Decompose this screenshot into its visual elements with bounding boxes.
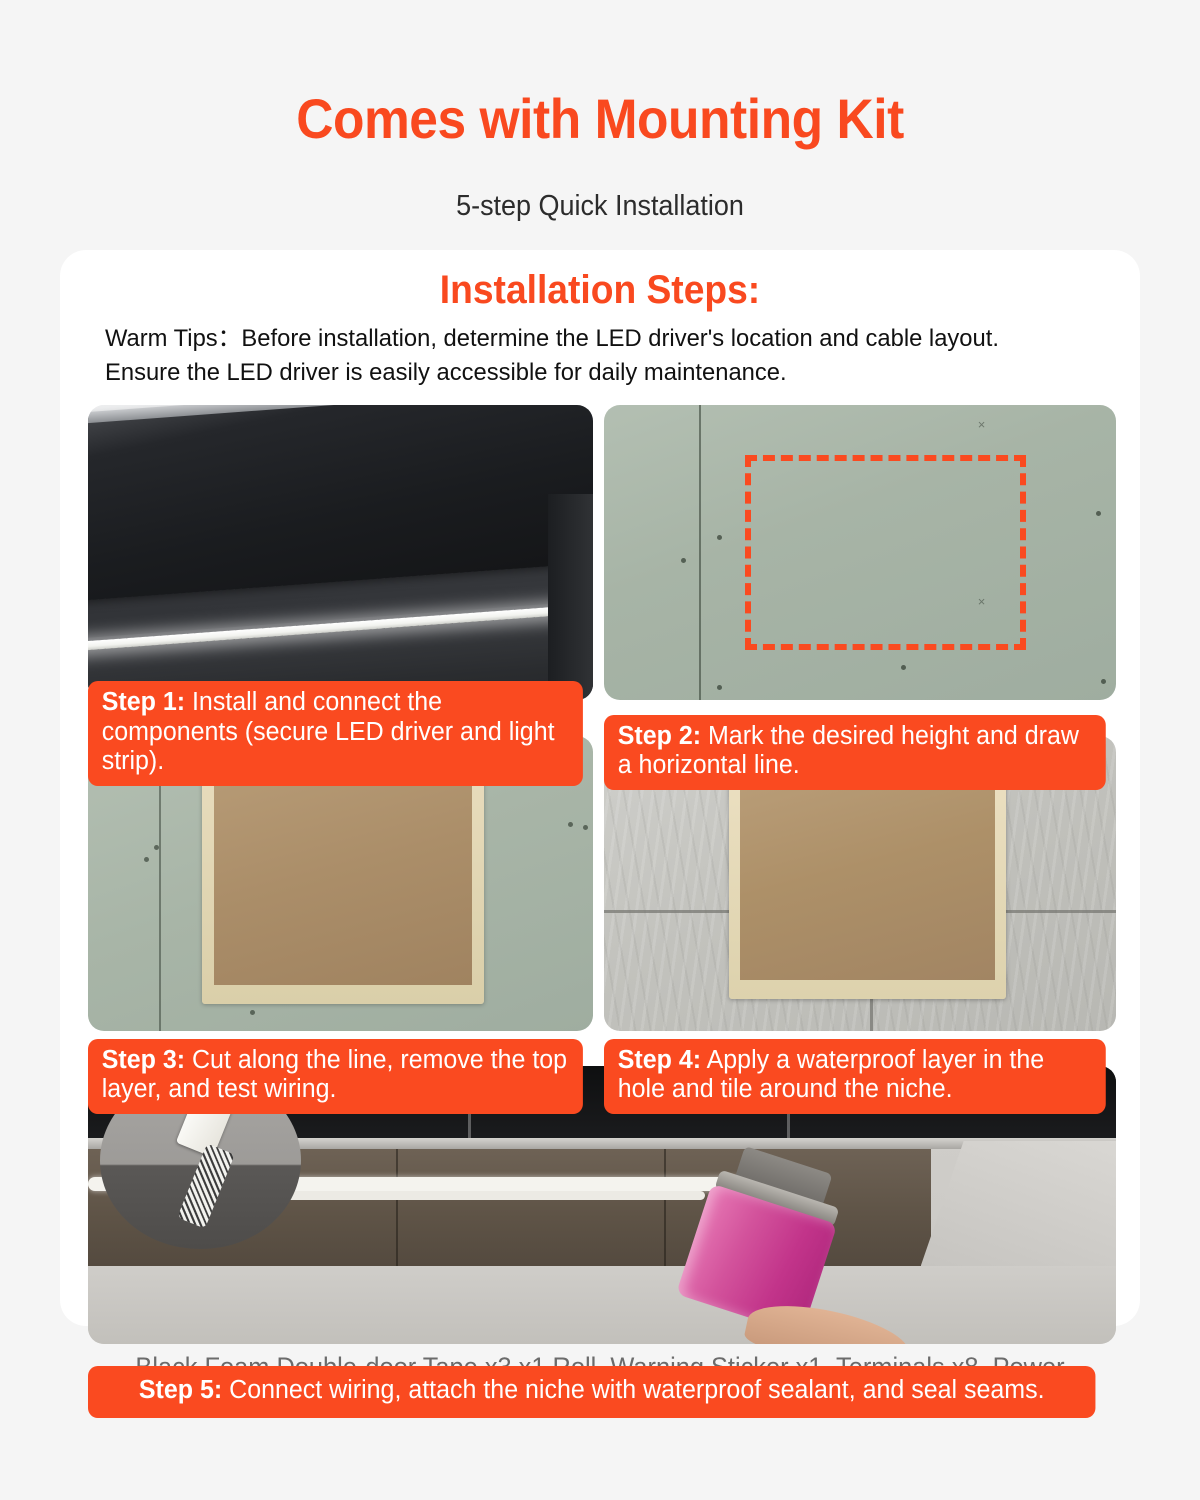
screw-dot xyxy=(717,685,722,690)
step-2-photo: × × xyxy=(604,405,1116,700)
screw-dot xyxy=(717,535,722,540)
step-2-caption: Step 2: Mark the desired height and draw… xyxy=(604,715,1106,790)
page-subtitle: 5-step Quick Installation xyxy=(42,190,1158,223)
screw-dot xyxy=(681,558,686,563)
step-3-caption: Step 3: Cut along the line, remove the t… xyxy=(88,1039,583,1114)
steps-grid: Step 1: Install and connect the componen… xyxy=(88,405,1116,1344)
panel-seam xyxy=(664,1149,666,1266)
page-title: Comes with Mounting Kit xyxy=(48,86,1152,151)
drywall-seam xyxy=(699,405,701,700)
screw-dot xyxy=(901,665,906,670)
niche-interior xyxy=(214,777,471,985)
black-fixture-face xyxy=(88,405,593,603)
step-5-caption: Step 5: Connect wiring, attach the niche… xyxy=(88,1366,1095,1418)
steps-row-1: Step 1: Install and connect the componen… xyxy=(88,405,1116,718)
marked-outline-rectangle xyxy=(745,455,1027,650)
warm-tips-text: Warm Tips：Before installation, determine… xyxy=(105,322,1075,390)
screw-dot xyxy=(144,857,149,862)
screw-dot xyxy=(1101,679,1106,684)
panel-seam xyxy=(396,1149,398,1266)
screw-dot xyxy=(154,845,159,850)
niche-interior xyxy=(740,777,994,980)
step-5-label: Step 5: xyxy=(139,1376,222,1404)
step-3-label: Step 3: xyxy=(102,1046,185,1074)
wood-niche-frame xyxy=(729,763,1005,999)
braided-sleeve xyxy=(177,1144,235,1229)
step-5-text: Connect wiring, attach the niche with wa… xyxy=(222,1376,1044,1404)
right-tile-panel xyxy=(921,1141,1116,1266)
screw-dot xyxy=(250,1010,255,1015)
step-4-caption: Step 4: Apply a waterproof layer in the … xyxy=(604,1039,1106,1114)
installation-steps-heading: Installation Steps: xyxy=(98,268,1102,313)
infographic-page: Comes with Mounting Kit 5-step Quick Ins… xyxy=(0,0,1200,1500)
lower-tile-wall xyxy=(88,1266,1116,1344)
step-card-2: × × Step 2: Mark the desired height and … xyxy=(604,405,1116,700)
right-return-wall xyxy=(548,494,593,701)
step-1-photo xyxy=(88,405,593,700)
step-4-label: Step 4: xyxy=(618,1046,701,1074)
screw-dot xyxy=(583,825,588,830)
step-1-caption: Step 1: Install and connect the componen… xyxy=(88,681,583,786)
screw-dot xyxy=(568,822,573,827)
step-2-label: Step 2: xyxy=(618,722,701,750)
screw-dot xyxy=(1096,511,1101,516)
step-1-label: Step 1: xyxy=(102,688,185,716)
installation-card: Installation Steps: Warm Tips：Before ins… xyxy=(60,250,1140,1326)
wood-niche-frame xyxy=(202,763,485,1005)
step-card-1: Step 1: Install and connect the componen… xyxy=(88,405,593,700)
